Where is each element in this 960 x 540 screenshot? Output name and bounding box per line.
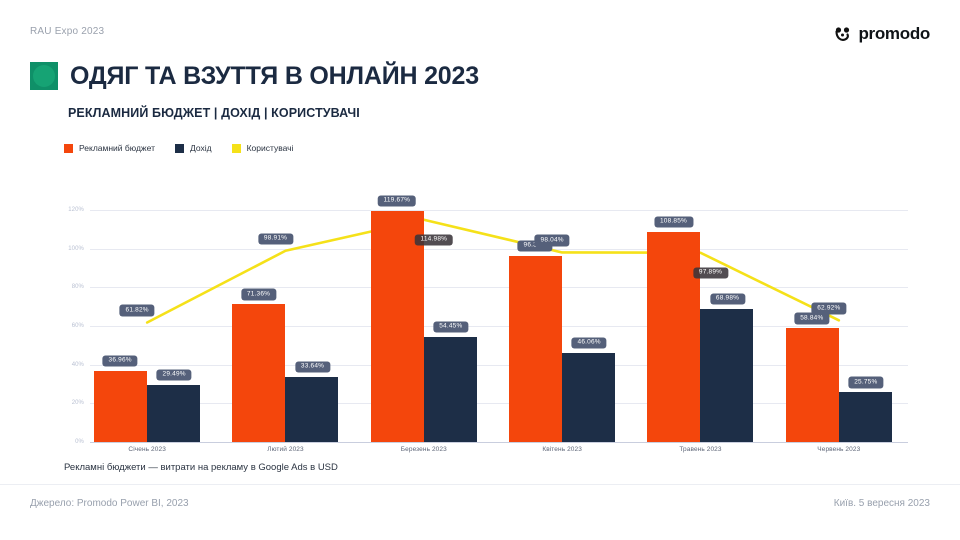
- legend-swatch-icon: [175, 144, 184, 153]
- bar-budget[interactable]: [786, 328, 839, 442]
- bar-group: Лютий 2023: [216, 210, 354, 442]
- value-label-users: 97.89%: [693, 267, 728, 279]
- page-title: ОДЯГ ТА ВЗУТТЯ В ОНЛАЙН 2023: [70, 64, 479, 89]
- bar-revenue[interactable]: [839, 392, 892, 442]
- value-label-budget: 108.85%: [654, 216, 693, 228]
- bar-revenue[interactable]: [285, 377, 338, 442]
- legend-swatch-icon: [64, 144, 73, 153]
- value-label-revenue: 25.75%: [848, 377, 883, 389]
- bar-budget[interactable]: [232, 304, 285, 442]
- page-title-row: ОДЯГ ТА ВЗУТТЯ В ОНЛАЙН 2023: [30, 62, 479, 90]
- green-circle-icon: [30, 62, 58, 90]
- value-label-users: 62.92%: [811, 303, 846, 315]
- x-axis-tick-label: Січень 2023: [78, 446, 216, 453]
- value-label-users: 61.82%: [120, 305, 155, 317]
- value-label-budget: 71.36%: [241, 289, 276, 301]
- bar-budget[interactable]: [94, 371, 147, 442]
- bar-group: Червень 2023: [770, 210, 908, 442]
- value-label-revenue: 33.64%: [295, 361, 330, 373]
- footer-place-date: Київ. 5 вересня 2023: [834, 498, 930, 509]
- legend-label: Рекламний бюджет: [79, 143, 155, 153]
- value-label-users: 98.91%: [258, 233, 293, 245]
- bar-revenue[interactable]: [424, 337, 477, 442]
- bar-group: Травень 2023: [631, 210, 769, 442]
- footer-source: Джерело: Promodo Power BI, 2023: [30, 498, 189, 509]
- bar-budget[interactable]: [647, 232, 700, 442]
- bar-revenue[interactable]: [147, 385, 200, 442]
- x-axis-tick-label: Червень 2023: [770, 446, 908, 453]
- promodo-logo-icon: [834, 27, 851, 42]
- slide-root: RAU Expo 2023 promodo ОДЯГ ТА ВЗУТТЯ В О…: [0, 0, 960, 540]
- chart-bar-groups: Січень 2023Лютий 2023Березень 2023Квітен…: [78, 210, 908, 442]
- legend-item: Дохід: [175, 143, 212, 153]
- legend-label: Користувачі: [247, 143, 294, 153]
- x-axis-tick-label: Квітень 2023: [493, 446, 631, 453]
- gridline: [90, 442, 908, 443]
- legend-label: Дохід: [190, 143, 212, 153]
- legend-swatch-icon: [232, 144, 241, 153]
- page-subtitle: РЕКЛАМНИЙ БЮДЖЕТ | ДОХІД | КОРИСТУВАЧІ: [68, 106, 360, 120]
- bar-revenue[interactable]: [562, 353, 615, 442]
- chart-plot-area: 120%100%80%60%40%20%0% Січень 2023Лютий …: [78, 210, 908, 442]
- value-label-budget: 58.84%: [794, 313, 829, 325]
- chart-footnote: Рекламні бюджети — витрати на рекламу в …: [64, 462, 338, 473]
- value-label-revenue: 46.06%: [572, 337, 607, 349]
- value-label-revenue: 29.49%: [157, 369, 192, 381]
- legend-item: Рекламний бюджет: [64, 143, 155, 153]
- brand-logo: promodo: [834, 24, 930, 44]
- value-label-users: 114.98%: [415, 234, 454, 246]
- value-label-budget: 36.96%: [103, 355, 138, 367]
- legend-item: Користувачі: [232, 143, 294, 153]
- chart-legend: Рекламний бюджетДохідКористувачі: [64, 143, 293, 153]
- bar-budget[interactable]: [509, 256, 562, 442]
- value-label-revenue: 54.45%: [433, 321, 468, 333]
- x-axis-tick-label: Травень 2023: [631, 446, 769, 453]
- x-axis-tick-label: Лютий 2023: [216, 446, 354, 453]
- bar-group: Січень 2023: [78, 210, 216, 442]
- value-label-budget: 119.67%: [378, 195, 417, 207]
- eyebrow-label: RAU Expo 2023: [30, 26, 104, 37]
- brand-name: promodo: [858, 24, 930, 44]
- value-label-revenue: 68.98%: [710, 293, 745, 305]
- footer-divider: [0, 484, 960, 485]
- bar-revenue[interactable]: [700, 309, 753, 442]
- x-axis-tick-label: Березень 2023: [355, 446, 493, 453]
- value-label-users: 98.04%: [535, 235, 570, 247]
